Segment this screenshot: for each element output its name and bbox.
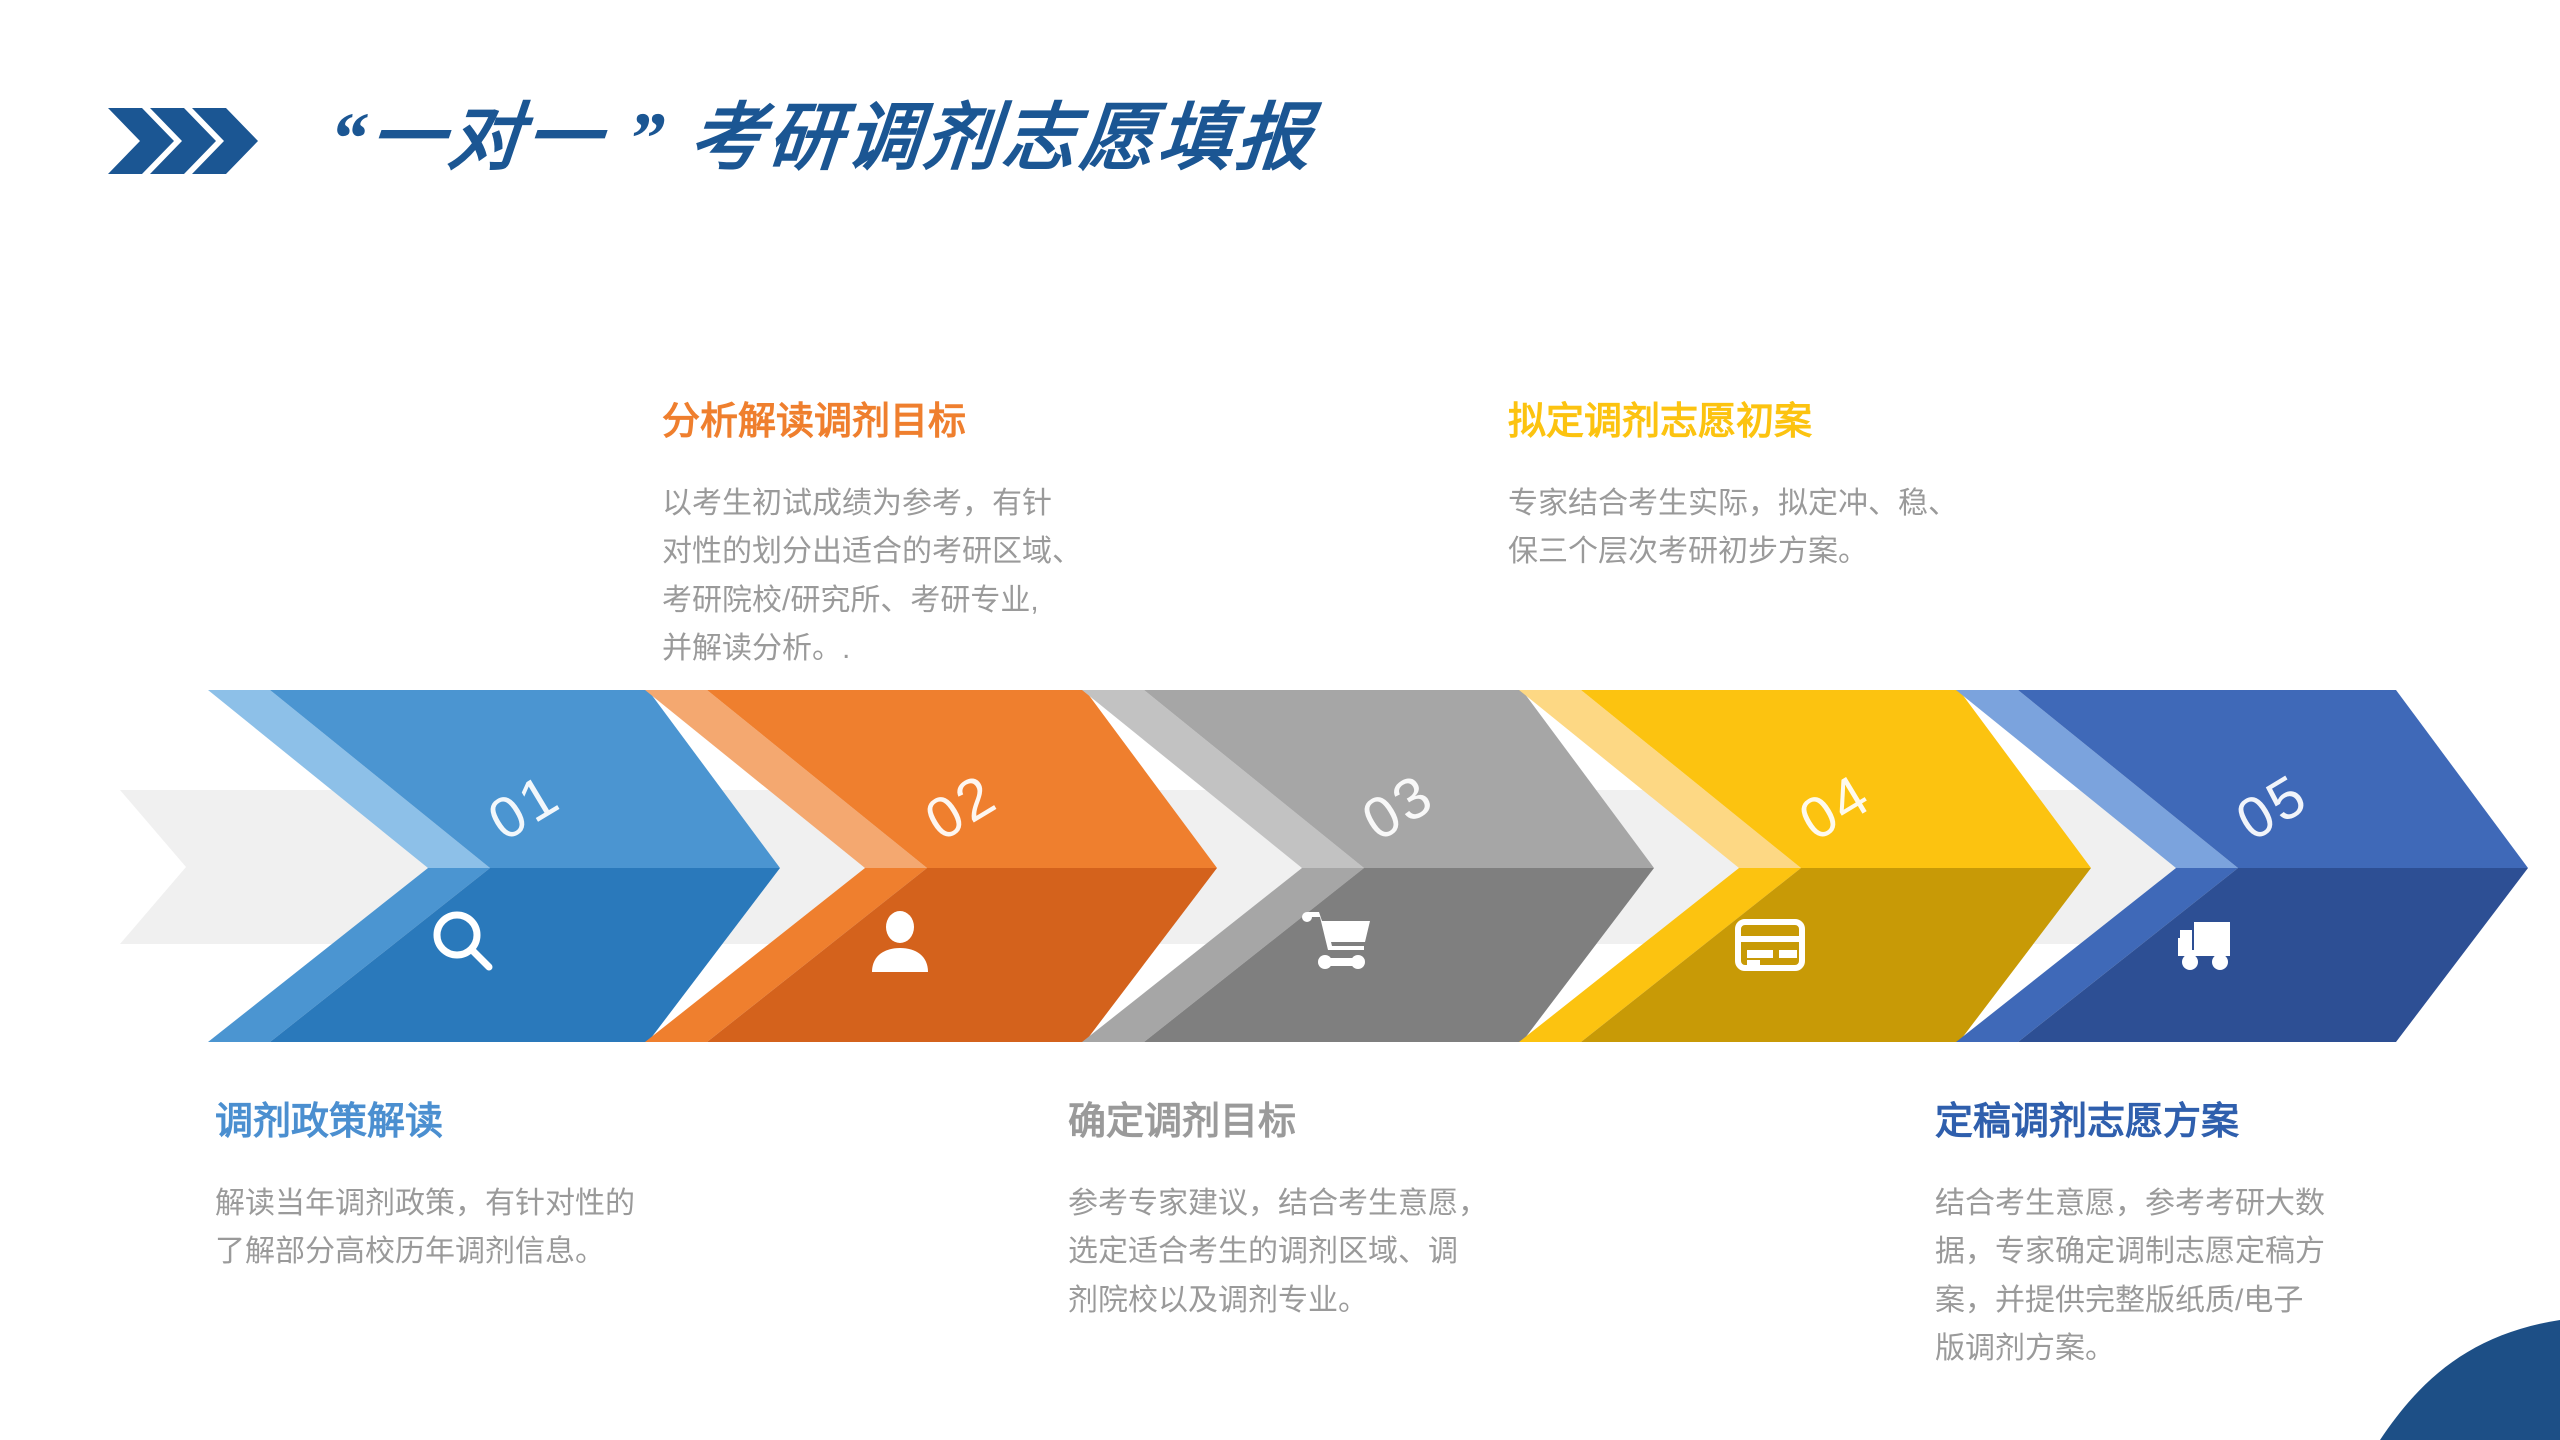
step-body-line: 专家结合考生实际，拟定冲、稳、 bbox=[1508, 480, 2048, 529]
step-text-03: 确定调剂目标 参考专家建议，结合考生意愿， 选定适合考生的调剂区域、调 剂院校以… bbox=[1068, 1100, 1628, 1325]
truck-icon bbox=[2172, 908, 2246, 982]
step-text-01: 调剂政策解读 解读当年调剂政策，有针对性的 了解部分高校历年调剂信息。 bbox=[215, 1100, 775, 1277]
step-heading-01: 调剂政策解读 bbox=[215, 1100, 775, 1146]
step-text-05: 定稿调剂志愿方案 结合考生意愿，参考考研大数 据，专家确定调制志愿定稿方 案，并… bbox=[1935, 1100, 2455, 1374]
step-body-line: 以考生初试成绩为参考，有针 bbox=[662, 480, 1182, 529]
step-heading-02: 分析解读调剂目标 bbox=[662, 400, 1182, 446]
step-heading-04: 拟定调剂志愿初案 bbox=[1508, 400, 2048, 446]
step-body-line: 考研院校/研究所、考研专业, bbox=[662, 577, 1182, 626]
magnifier-icon bbox=[426, 904, 500, 978]
slide-canvas: “一对一 ” 考研调剂志愿填报 01 bbox=[0, 0, 2560, 1440]
step-body-line: 解读当年调剂政策，有针对性的 bbox=[215, 1180, 775, 1229]
step-body-01: 解读当年调剂政策，有针对性的 了解部分高校历年调剂信息。 bbox=[215, 1180, 775, 1277]
step-body-line: 据，专家确定调制志愿定稿方 bbox=[1935, 1228, 2455, 1277]
step-body-03: 参考专家建议，结合考生意愿， 选定适合考生的调剂区域、调 剂院校以及调剂专业。 bbox=[1068, 1180, 1628, 1326]
step-body-line: 剂院校以及调剂专业。 bbox=[1068, 1277, 1628, 1326]
step-heading-03: 确定调剂目标 bbox=[1068, 1100, 1628, 1146]
step-body-line: 对性的划分出适合的考研区域、 bbox=[662, 528, 1182, 577]
step-body-line: 并解读分析。. bbox=[662, 625, 1182, 674]
step-body-02: 以考生初试成绩为参考，有针 对性的划分出适合的考研区域、 考研院校/研究所、考研… bbox=[662, 480, 1182, 674]
step-heading-05: 定稿调剂志愿方案 bbox=[1935, 1100, 2455, 1146]
step-text-04: 拟定调剂志愿初案 专家结合考生实际，拟定冲、稳、 保三个层次考研初步方案。 bbox=[1508, 400, 2048, 577]
step-body-line: 选定适合考生的调剂区域、调 bbox=[1068, 1228, 1628, 1277]
step-body-line: 保三个层次考研初步方案。 bbox=[1508, 528, 2048, 577]
corner-decoration bbox=[2380, 1320, 2560, 1440]
step-body-line: 案，并提供完整版纸质/电子 bbox=[1935, 1277, 2455, 1326]
step-body-line: 版调剂方案。 bbox=[1935, 1325, 2455, 1374]
step-text-02: 分析解读调剂目标 以考生初试成绩为参考，有针 对性的划分出适合的考研区域、 考研… bbox=[662, 400, 1182, 674]
shopping-cart-icon bbox=[1298, 904, 1372, 978]
step-body-line: 结合考生意愿，参考考研大数 bbox=[1935, 1180, 2455, 1229]
step-body-04: 专家结合考生实际，拟定冲、稳、 保三个层次考研初步方案。 bbox=[1508, 480, 2048, 577]
person-icon bbox=[863, 904, 937, 978]
step-body-line: 参考专家建议，结合考生意愿， bbox=[1068, 1180, 1628, 1229]
step-chevron-05[interactable]: 05 bbox=[1956, 682, 2560, 1050]
credit-card-icon bbox=[1733, 910, 1807, 984]
step-body-05: 结合考生意愿，参考考研大数 据，专家确定调制志愿定稿方 案，并提供完整版纸质/电… bbox=[1935, 1180, 2455, 1374]
step-body-line: 了解部分高校历年调剂信息。 bbox=[215, 1228, 775, 1277]
